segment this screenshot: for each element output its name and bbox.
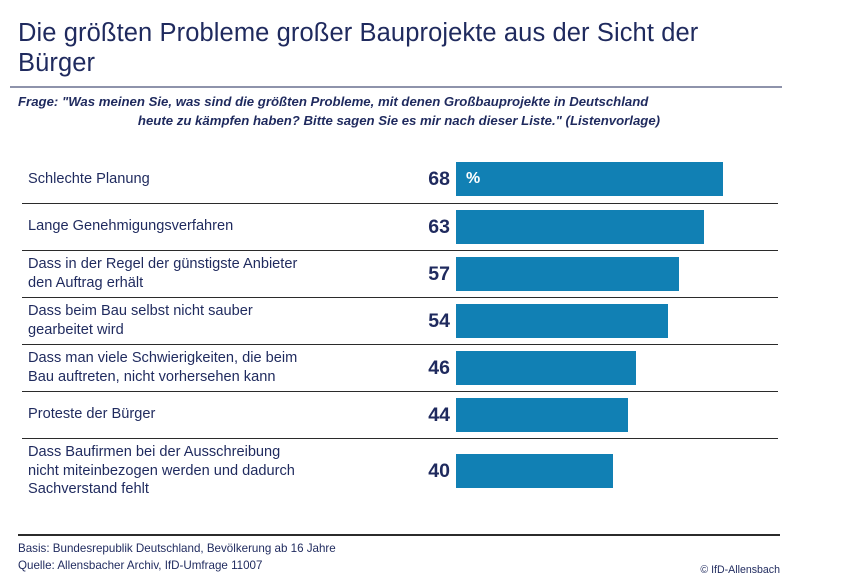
question-text: Frage: "Was meinen Sie, was sind die grö…: [18, 92, 780, 130]
chart-container: Die größten Probleme großer Bauprojekte …: [0, 0, 858, 581]
table-row: Dass man viele Schwierigkeiten, die beim…: [0, 344, 858, 391]
table-row: Dass Baufirmen bei der Ausschreibungnich…: [0, 438, 858, 504]
row-value: 54: [390, 310, 450, 333]
question-line-1: Frage: "Was meinen Sie, was sind die grö…: [18, 92, 780, 111]
bar: [456, 398, 628, 432]
row-label: Dass in der Regel der günstigste Anbiete…: [28, 255, 418, 292]
row-label: Lange Genehmigungsverfahren: [28, 217, 418, 236]
row-label: Dass beim Bau selbst nicht saubergearbei…: [28, 302, 418, 339]
row-label: Dass Baufirmen bei der Ausschreibungnich…: [28, 443, 418, 499]
table-row: Dass beim Bau selbst nicht saubergearbei…: [0, 297, 858, 344]
row-label-line: Schlechte Planung: [28, 170, 418, 189]
row-content: Schlechte Planung68%: [0, 155, 858, 203]
bar: [456, 454, 613, 488]
footer-source: Quelle: Allensbacher Archiv, IfD-Umfrage…: [18, 558, 262, 574]
row-label: Schlechte Planung: [28, 170, 418, 189]
bar: [456, 257, 679, 291]
row-value: 68: [390, 168, 450, 191]
row-label-line: gearbeitet wird: [28, 321, 418, 340]
row-label-line: Dass in der Regel der günstigste Anbiete…: [28, 255, 418, 274]
row-content: Proteste der Bürger44: [0, 391, 858, 438]
row-label-line: Proteste der Bürger: [28, 405, 418, 424]
bar-chart-rows: Schlechte Planung68%Lange Genehmigungsve…: [0, 155, 858, 504]
row-label-line: Dass beim Bau selbst nicht sauber: [28, 302, 418, 321]
title-divider: [10, 86, 782, 88]
row-label-line: nicht miteinbezogen werden und dadurch: [28, 462, 418, 481]
row-value: 63: [390, 216, 450, 239]
row-label-line: Sachverstand fehlt: [28, 480, 418, 499]
table-row: Dass in der Regel der günstigste Anbiete…: [0, 250, 858, 297]
row-value: 40: [390, 460, 450, 483]
row-content: Dass man viele Schwierigkeiten, die beim…: [0, 344, 858, 391]
table-row: Schlechte Planung68%: [0, 155, 858, 203]
row-label: Proteste der Bürger: [28, 405, 418, 424]
row-value: 44: [390, 404, 450, 427]
row-label-line: Bau auftreten, nicht vorhersehen kann: [28, 368, 418, 387]
row-content: Dass Baufirmen bei der Ausschreibungnich…: [0, 438, 858, 504]
row-content: Dass in der Regel der günstigste Anbiete…: [0, 250, 858, 297]
row-label-line: Dass man viele Schwierigkeiten, die beim: [28, 349, 418, 368]
question-line-2: heute zu kämpfen haben? Bitte sagen Sie …: [18, 111, 780, 130]
row-label-line: den Auftrag erhält: [28, 274, 418, 293]
footer-divider: [18, 534, 780, 536]
percent-unit-label: %: [466, 171, 480, 187]
bar: [456, 210, 704, 244]
table-row: Proteste der Bürger44: [0, 391, 858, 438]
row-label-line: Lange Genehmigungsverfahren: [28, 217, 418, 236]
row-content: Dass beim Bau selbst nicht saubergearbei…: [0, 297, 858, 344]
row-value: 57: [390, 263, 450, 286]
page-title: Die größten Probleme großer Bauprojekte …: [18, 18, 758, 78]
footer-basis: Basis: Bundesrepublik Deutschland, Bevöl…: [18, 541, 336, 557]
row-label-line: Dass Baufirmen bei der Ausschreibung: [28, 443, 418, 462]
row-content: Lange Genehmigungsverfahren63: [0, 203, 858, 250]
row-value: 46: [390, 357, 450, 380]
row-label: Dass man viele Schwierigkeiten, die beim…: [28, 349, 418, 386]
footer-copyright: © IfD-Allensbach: [700, 563, 780, 577]
table-row: Lange Genehmigungsverfahren63: [0, 203, 858, 250]
bar: [456, 304, 668, 338]
bar: %: [456, 162, 723, 196]
bar: [456, 351, 636, 385]
